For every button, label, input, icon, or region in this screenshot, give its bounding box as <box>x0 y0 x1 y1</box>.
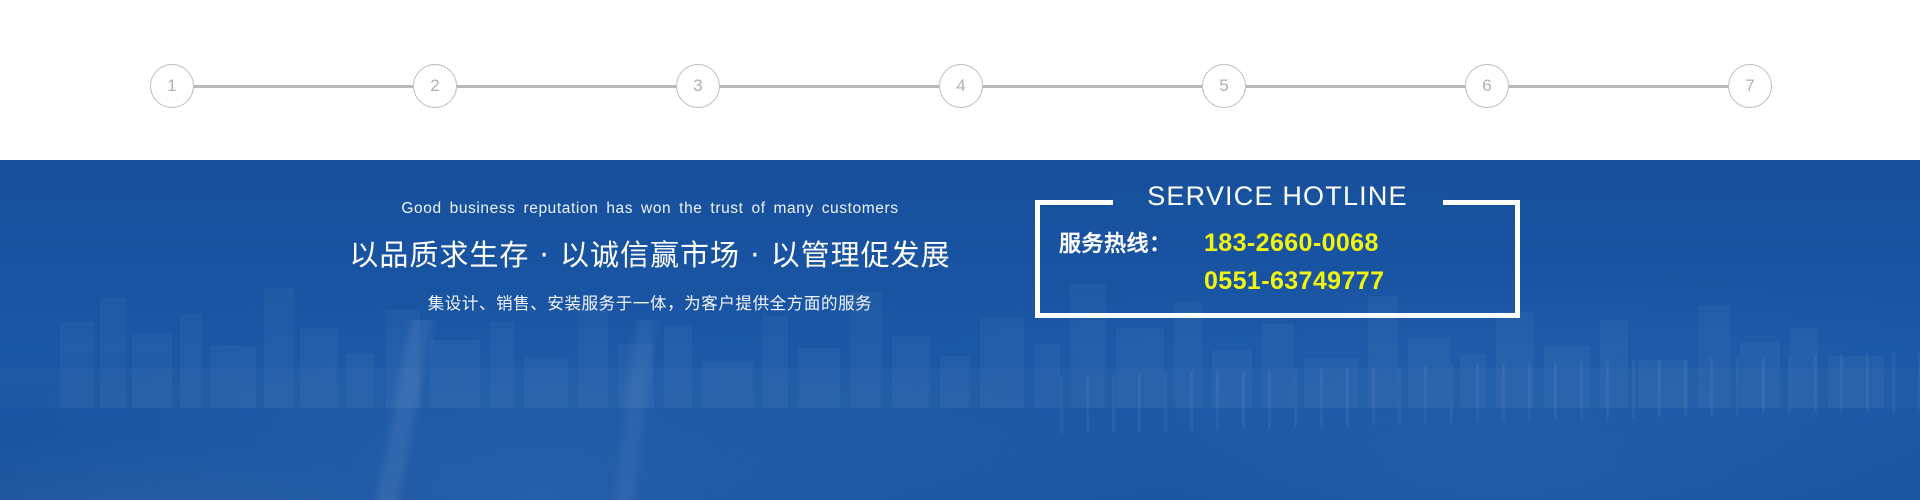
step-connector-4 <box>983 85 1202 88</box>
hotline-label: 服务热线： <box>1059 226 1204 258</box>
hotline-title: SERVICE HOTLINE <box>1035 181 1520 212</box>
promo-banner: Good business reputation has won the tru… <box>0 160 1920 500</box>
slogan-block: Good business reputation has won the tru… <box>240 200 1060 314</box>
step-node-5[interactable]: 5 <box>1202 64 1246 108</box>
step-connector-1 <box>194 85 413 88</box>
hotline-row-primary: 服务热线： 183-2660-0068 <box>1059 226 1496 258</box>
slogan-subline: 集设计、销售、安装服务于一体，为客户提供全方面的服务 <box>240 290 1060 314</box>
step-node-3[interactable]: 3 <box>676 64 720 108</box>
step-indicator: 1 2 3 4 5 6 7 <box>150 64 1772 108</box>
step-node-1[interactable]: 1 <box>150 64 194 108</box>
step-connector-2 <box>457 85 676 88</box>
step-node-4[interactable]: 4 <box>939 64 983 108</box>
service-hotline-box: SERVICE HOTLINE 服务热线： 183-2660-0068 服务热线… <box>1035 200 1520 318</box>
hotline-number-primary[interactable]: 183-2660-0068 <box>1204 229 1379 258</box>
step-connector-5 <box>1246 85 1465 88</box>
hotline-row-secondary: 服务热线： 0551-63749777 <box>1059 264 1496 296</box>
pagination-strip: 1 2 3 4 5 6 7 <box>0 0 1920 160</box>
step-node-2[interactable]: 2 <box>413 64 457 108</box>
hotline-numbers: 服务热线： 183-2660-0068 服务热线： 0551-63749777 <box>1035 226 1520 296</box>
step-connector-3 <box>720 85 939 88</box>
slogan-headline: 以品质求生存 · 以诚信赢市场 · 以管理促发展 <box>240 232 1060 274</box>
hotline-number-secondary[interactable]: 0551-63749777 <box>1204 267 1384 296</box>
step-connector-6 <box>1509 85 1728 88</box>
step-node-7[interactable]: 7 <box>1728 64 1772 108</box>
page-root: 1 2 3 4 5 6 7 <box>0 0 1920 500</box>
slogan-english-line: Good business reputation has won the tru… <box>240 200 1060 218</box>
step-node-6[interactable]: 6 <box>1465 64 1509 108</box>
